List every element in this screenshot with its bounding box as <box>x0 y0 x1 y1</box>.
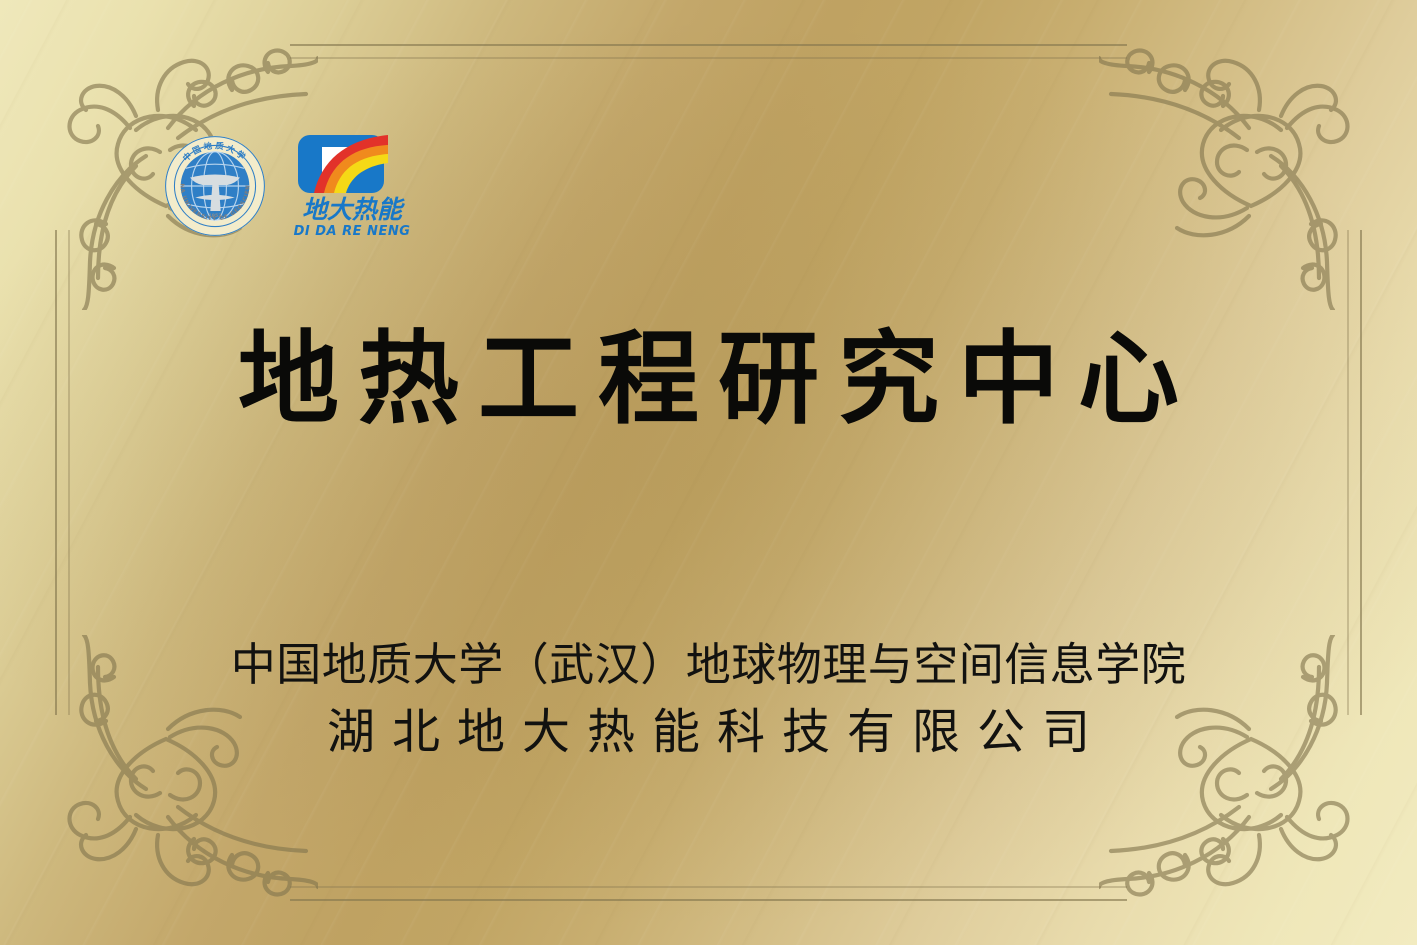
subtitle-line-company: 湖北地大热能科技有限公司 <box>0 701 1417 763</box>
didareneng-logo: 地大热能 DI DA RE NENG <box>281 133 423 239</box>
china-university-of-geosciences-emblem: 中国地质大学 CHINA UNIVERSITY OF GEOSCIENCES 1… <box>163 134 267 238</box>
corner-ornament-top-right <box>1099 10 1399 310</box>
plaque-board: 中国地质大学 CHINA UNIVERSITY OF GEOSCIENCES 1… <box>0 0 1417 945</box>
page-title: 地热工程研究中心 <box>0 325 1417 434</box>
frame-line-bottom-inner <box>290 886 1127 888</box>
frame-line-top-inner <box>290 57 1127 59</box>
frame-line-bottom-outer <box>290 899 1127 901</box>
frame-line-top-outer <box>290 44 1127 46</box>
didareneng-wordmark-cn: 地大热能 <box>302 195 405 224</box>
subtitle-block: 中国地质大学（武汉）地球物理与空间信息学院 湖北地大热能科技有限公司 <box>0 636 1417 763</box>
didareneng-wordmark: 地大热能 DI DA RE NENG <box>281 193 423 239</box>
subtitle-line-university: 中国地质大学（武汉）地球物理与空间信息学院 <box>0 636 1417 695</box>
logo-row: 中国地质大学 CHINA UNIVERSITY OF GEOSCIENCES 1… <box>163 133 423 239</box>
svg-text:1952: 1952 <box>209 213 222 219</box>
didareneng-wordmark-en: DI DA RE NENG <box>294 224 411 239</box>
didareneng-mark-icon <box>291 133 413 195</box>
